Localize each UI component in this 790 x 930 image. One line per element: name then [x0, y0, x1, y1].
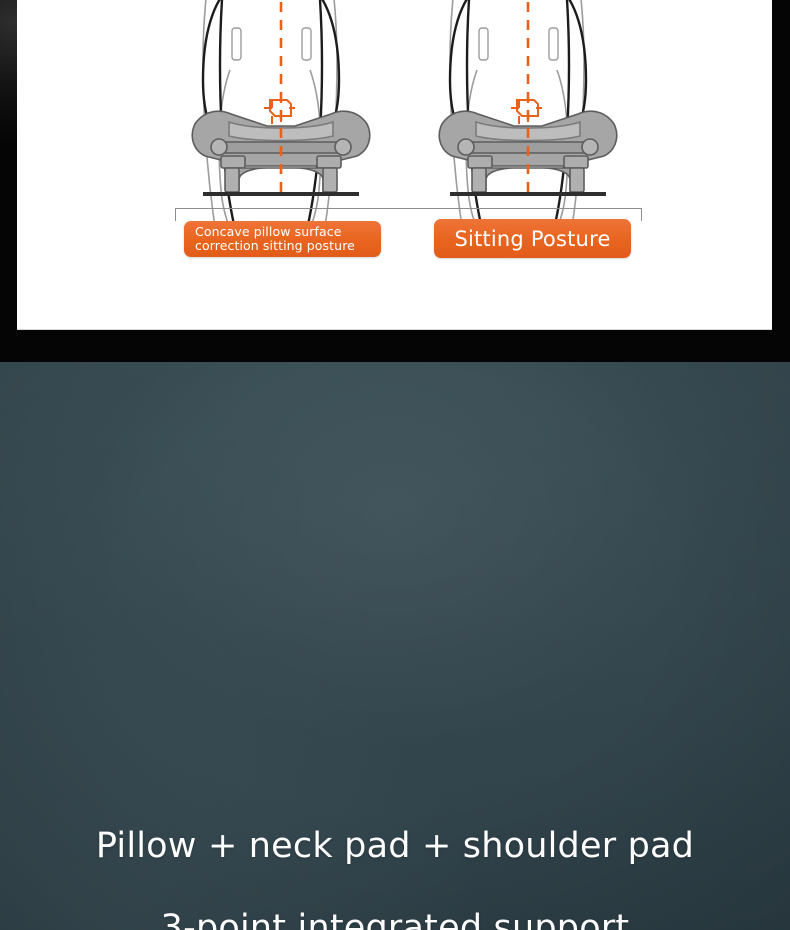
headline-primary: Pillow + neck pad + shoulder pad [0, 826, 790, 866]
headline-secondary: 3-point integrated support [0, 908, 790, 930]
right-crosshair-icon [511, 96, 542, 124]
product-photo-frame: Concave pillow surface correction sittin… [0, 0, 790, 362]
panel-bottom-rule [17, 329, 772, 330]
left-crosshair-icon [264, 96, 295, 124]
left-figure-arm-detail [232, 28, 311, 60]
badge-sitting-posture: Sitting Posture [434, 219, 631, 258]
right-figure-arm-detail [479, 28, 558, 60]
badge-concave-line-1: Concave pillow surface [195, 225, 355, 240]
posture-diagram-panel: Concave pillow surface correction sittin… [17, 0, 772, 330]
left-floor-line [203, 192, 359, 196]
feature-description-section: Pillow + neck pad + shoulder pad 3-point… [0, 362, 790, 930]
badge-concave-pillow: Concave pillow surface correction sittin… [184, 221, 381, 257]
badge-sitting-label: Sitting Posture [454, 227, 610, 251]
posture-comparison-diagram [17, 0, 772, 330]
badge-concave-line-2: correction sitting posture [195, 239, 355, 254]
right-floor-line [450, 192, 606, 196]
